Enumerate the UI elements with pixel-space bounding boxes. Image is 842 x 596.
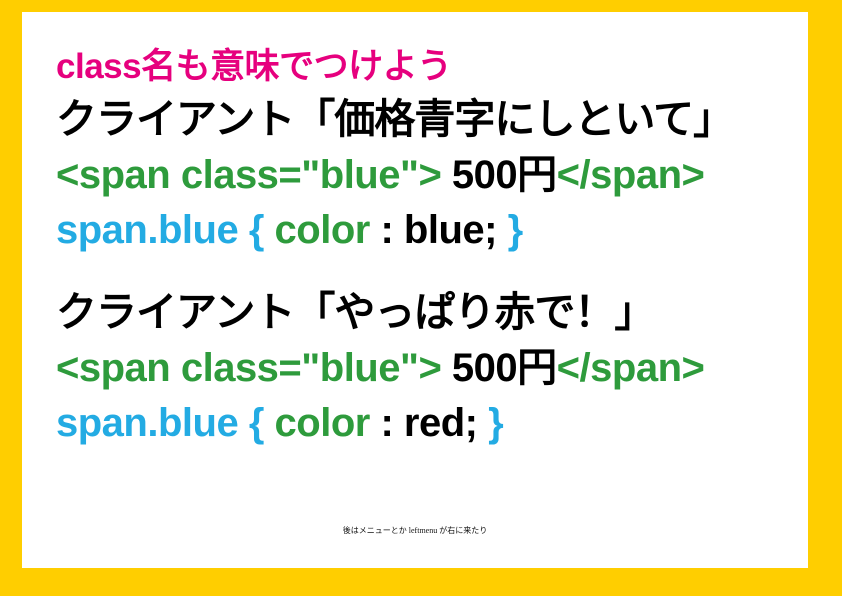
css-colon-1: : [380,208,393,252]
css-rule-2: span.blue { color : red; } [56,395,798,451]
css-property-1: color [275,208,370,252]
slide-canvas: class名も意味でつけよう クライアント「価格青字にしといて」 <span c… [22,12,808,568]
html-price-value-1: 500円 [441,153,556,197]
css-brace-open-2: { [249,401,264,445]
html-close-tag-2: </span> [557,346,705,390]
html-open-tag-2: <span class="blue"> [56,346,441,390]
css-value-2: red; [404,401,478,445]
example-block-2: クライアント「やっぱり赤で！」 <span class="blue"> 500円… [56,284,798,451]
css-brace-close-2: } [488,401,503,445]
css-value-1: blue; [404,208,497,252]
css-brace-open-1: { [249,208,264,252]
html-snippet-2: <span class="blue"> 500円</span> [56,341,798,395]
css-colon-2: : [380,401,393,445]
block-separator [56,258,798,284]
client-quote-2: クライアント「やっぱり赤で！」 [56,284,798,341]
css-property-2: color [275,401,370,445]
css-rule-1: span.blue { color : blue; } [56,202,798,258]
html-open-tag-1: <span class="blue"> [56,153,441,197]
html-snippet-1: <span class="blue"> 500円</span> [56,148,798,202]
slide-frame: class名も意味でつけよう クライアント「価格青字にしといて」 <span c… [0,0,842,596]
slide-content: class名も意味でつけよう クライアント「価格青字にしといて」 <span c… [56,43,798,451]
client-quote-1: クライアント「価格青字にしといて」 [56,91,798,148]
css-selector-1: span.blue [56,208,238,252]
css-selector-2: span.blue [56,401,238,445]
example-block-1: クライアント「価格青字にしといて」 <span class="blue"> 50… [56,91,798,258]
slide-footnote: 後はメニューとか leftmenu が右に来たり [22,525,808,537]
css-brace-close-1: } [508,208,523,252]
html-price-value-2: 500円 [441,346,556,390]
page-title: class名も意味でつけよう [56,43,798,91]
html-close-tag-1: </span> [557,153,705,197]
